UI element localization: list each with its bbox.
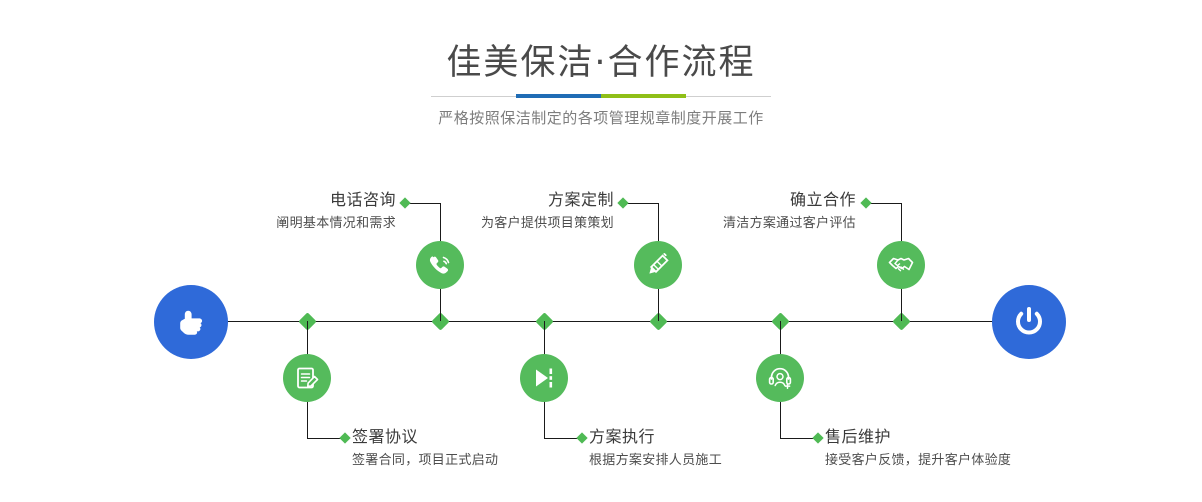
divider-segment-green <box>601 94 686 98</box>
step-icon-below-2[interactable] <box>520 354 568 402</box>
step-label-below-3: 售后维护 接受客户反馈，提升客户体验度 <box>825 427 1125 470</box>
connector-below-1-horizontal <box>307 438 343 439</box>
document-sign-icon <box>293 364 321 392</box>
step-label-above-1: 电话咨询 阐明基本情况和需求 <box>150 190 396 233</box>
connector-above-3-tip <box>860 197 871 208</box>
step-icon-above-3[interactable] <box>877 241 925 289</box>
connector-below-1-tip <box>339 432 350 443</box>
flow-diagram: 佳美保洁·合作流程 严格按照保洁制定的各项管理规章制度开展工作 <box>0 0 1202 502</box>
title-divider <box>431 94 771 99</box>
header: 佳美保洁·合作流程 <box>0 0 1202 81</box>
step-title: 售后维护 <box>825 427 1125 447</box>
end-endpoint[interactable] <box>992 285 1066 359</box>
connector-below-3-horizontal <box>780 438 816 439</box>
start-endpoint[interactable] <box>154 285 228 359</box>
connector-above-3-horizontal <box>867 203 901 204</box>
power-icon <box>1008 301 1050 343</box>
connector-above-2-tip <box>617 197 628 208</box>
step-desc: 接受客户反馈，提升客户体验度 <box>825 451 1125 470</box>
step-label-above-3: 确立合作 清洁方案通过客户评估 <box>640 190 856 233</box>
step-icon-below-1[interactable] <box>283 354 331 402</box>
page-title: 佳美保洁·合作流程 <box>0 0 1202 81</box>
headset-support-icon <box>766 364 794 392</box>
step-title: 确立合作 <box>640 190 856 210</box>
pencil-plan-icon <box>644 251 672 279</box>
divider-segment-blue <box>516 94 601 98</box>
connector-below-2-horizontal <box>544 438 580 439</box>
step-title: 电话咨询 <box>150 190 396 210</box>
step-icon-above-2[interactable] <box>634 241 682 289</box>
handshake-icon <box>887 251 915 279</box>
play-execute-icon <box>530 364 558 392</box>
step-desc: 阐明基本情况和需求 <box>150 214 396 233</box>
step-desc: 清洁方案通过客户评估 <box>640 214 856 233</box>
step-icon-below-3[interactable] <box>756 354 804 402</box>
step-label-above-2: 方案定制 为客户提供项目策策划 <box>380 190 614 233</box>
pointing-hand-icon <box>171 302 211 342</box>
phone-call-icon <box>426 251 454 279</box>
step-icon-above-1[interactable] <box>416 241 464 289</box>
step-desc: 为客户提供项目策策划 <box>380 214 614 233</box>
page-subtitle: 严格按照保洁制定的各项管理规章制度开展工作 <box>0 107 1202 128</box>
step-title: 方案定制 <box>380 190 614 210</box>
